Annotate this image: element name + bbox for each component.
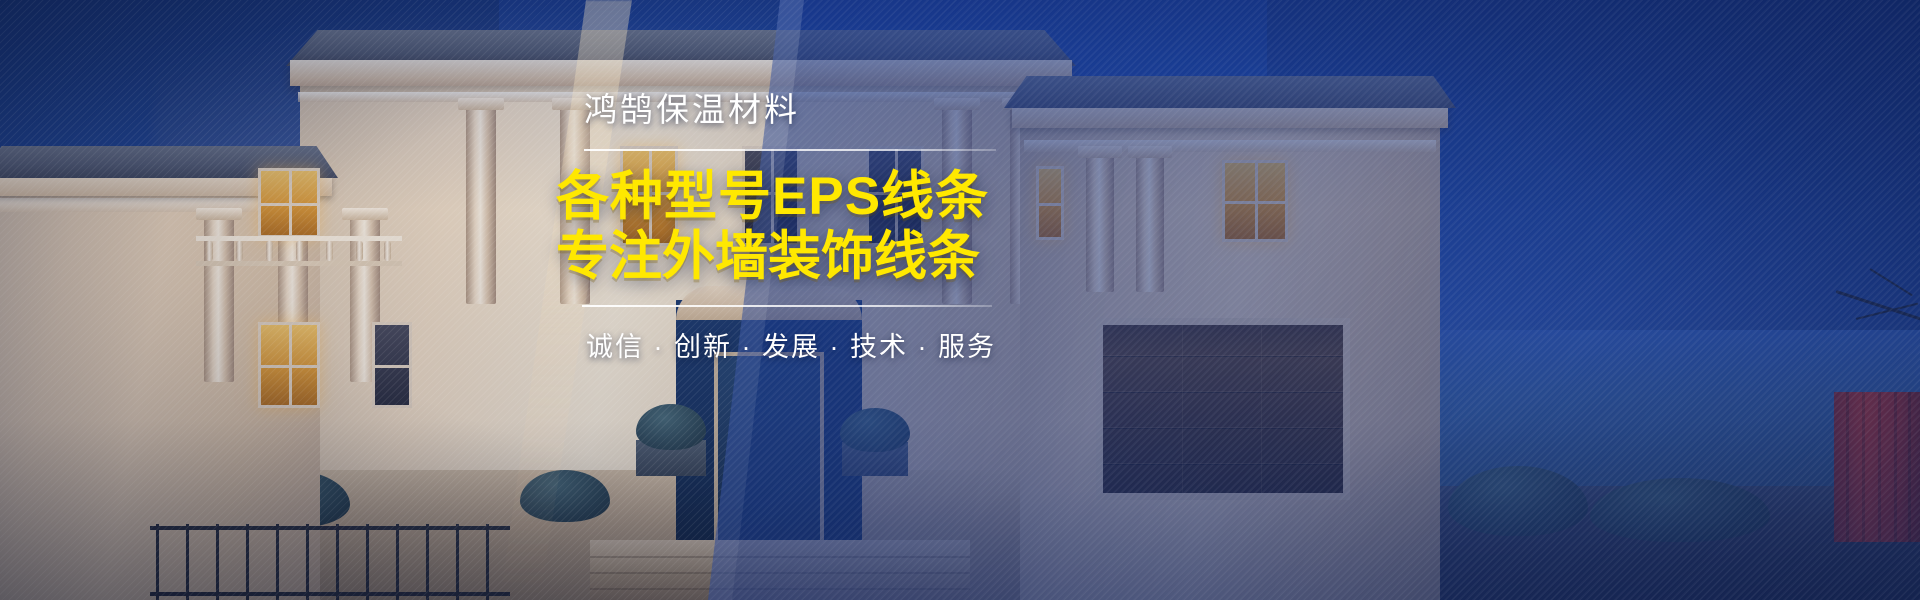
headline-line-2: 专注外墙装饰线条: [556, 227, 1026, 287]
brand-name: 鸿鹄保温材料: [556, 92, 1026, 128]
divider-upper: [584, 149, 996, 151]
headline-line-1: 各种型号EPS线条: [556, 167, 1026, 227]
divider-lower: [582, 305, 992, 307]
banner-copy-block: 鸿鹄保温材料 各种型号EPS线条 专注外墙装饰线条 诚信 · 创新 · 发展 ·…: [556, 92, 1026, 364]
hero-banner: 鸿鹄保温材料 各种型号EPS线条 专注外墙装饰线条 诚信 · 创新 · 发展 ·…: [0, 0, 1920, 600]
tagline: 诚信 · 创新 · 发展 · 技术 · 服务: [556, 325, 1026, 364]
headline: 各种型号EPS线条 专注外墙装饰线条: [556, 167, 1026, 287]
